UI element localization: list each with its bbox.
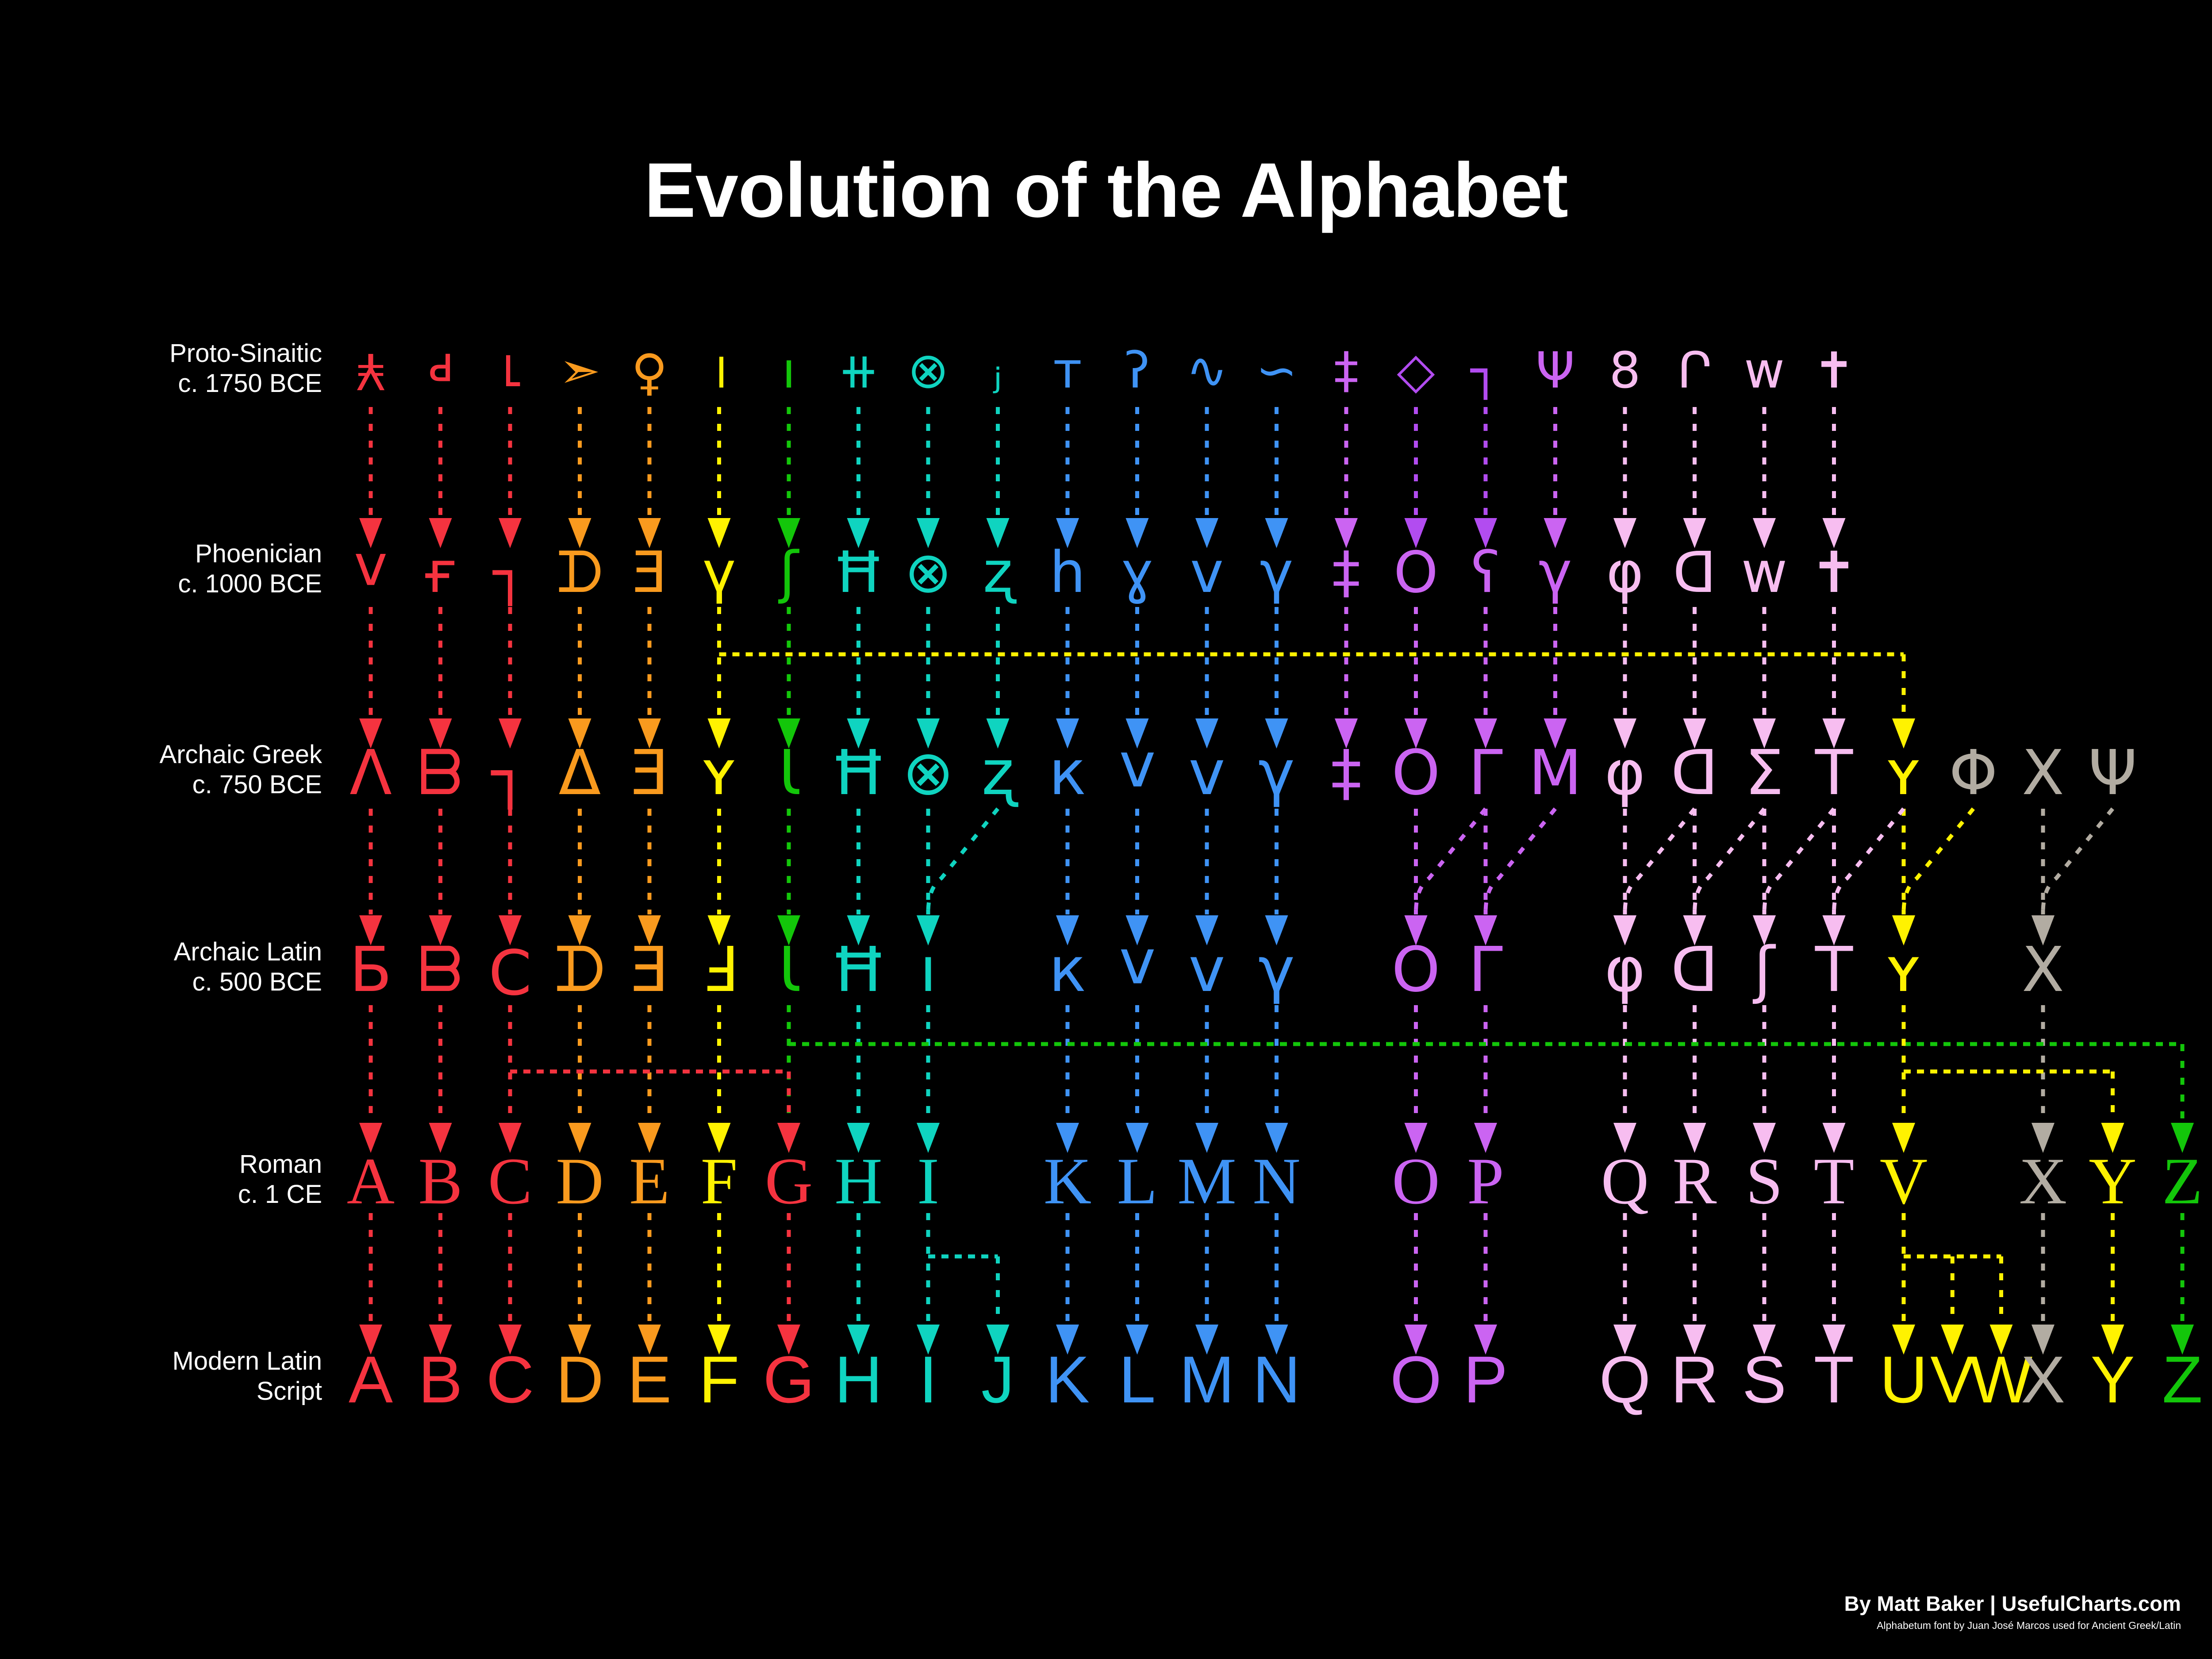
glyph-archaic-latin-letter-i: ı <box>888 934 968 1006</box>
glyph-modern-latin-letter-y: Y <box>2073 1343 2153 1416</box>
glyph-phoenician-resh: ᗡ <box>1655 537 1735 609</box>
glyph-proto-sinaitic-yodh-arm-hand: ⱼ <box>958 334 1038 407</box>
glyph-modern-latin-letter-t: T <box>1794 1343 1874 1416</box>
glyph-phoenician-beth: ғ <box>401 537 480 609</box>
glyph-archaic-greek-tau: Τ <box>1794 737 1874 810</box>
glyph-proto-sinaitic-resh-head: Ր <box>1655 334 1735 407</box>
glyph-archaic-greek-alpha: Ʌ <box>331 737 411 810</box>
glyph-phoenician-taw: ✝ <box>1794 537 1874 609</box>
glyph-phoenician-waw: ү <box>680 537 759 609</box>
glyph-roman-letter-l: L <box>1098 1145 1177 1217</box>
glyph-archaic-greek-digamma: ʏ <box>680 737 759 810</box>
glyph-roman-letter-b: B <box>401 1145 480 1217</box>
glyph-roman-letter-y: Y <box>2073 1145 2153 1217</box>
glyph-phoenician-lamedh: ɣ <box>1098 537 1177 609</box>
glyph-roman-letter-d: D <box>540 1145 620 1217</box>
glyph-phoenician-mem: ᴠ <box>1167 537 1247 609</box>
glyph-archaic-greek-psi: Ψ <box>2073 737 2153 810</box>
glyph-proto-sinaitic-shin-teeth: ᴡ <box>1724 334 1804 407</box>
glyph-archaic-greek-iota: ʐ <box>958 737 1038 810</box>
glyph-modern-latin-letter-s: S <box>1724 1343 1804 1416</box>
glyph-roman-letter-x: X <box>2003 1145 2083 1217</box>
glyph-modern-latin-letter-l: L <box>1098 1343 1177 1416</box>
glyph-phoenician-yodh: ʐ <box>958 537 1038 609</box>
glyph-proto-sinaitic-taw-mark: ✝ <box>1794 334 1874 407</box>
glyph-archaic-greek-theta: ⊗ <box>888 737 968 810</box>
glyph-archaic-latin-letter-s: ʃ <box>1724 934 1804 1006</box>
glyph-modern-latin-letter-b: B <box>401 1343 480 1416</box>
row-label-modern-latin: Modern Latin Script <box>0 1346 322 1407</box>
glyph-phoenician-pe: ʕ <box>1446 537 1525 609</box>
glyph-phoenician-ayin: Ο <box>1376 537 1456 609</box>
glyph-archaic-greek-gamma: ┐ <box>470 737 550 810</box>
glyph-proto-sinaitic-mem-water: ∿ <box>1167 334 1247 407</box>
glyph-archaic-latin-letter-e: Ǝ <box>610 934 689 1006</box>
glyph-roman-letter-a: A <box>331 1145 411 1217</box>
glyph-proto-sinaitic-he-celebrant: ♁ <box>610 334 689 407</box>
glyph-archaic-latin-letter-b: ᗷ <box>401 934 480 1006</box>
glyph-archaic-greek-chi: Χ <box>2003 737 2083 810</box>
glyph-proto-sinaitic-beth-house: ᴘ <box>401 334 480 407</box>
glyph-modern-latin-letter-h: H <box>819 1343 899 1416</box>
glyph-roman-letter-t: T <box>1794 1145 1874 1217</box>
glyph-modern-latin-letter-z: Z <box>2143 1343 2212 1416</box>
glyph-archaic-greek-delta: Δ <box>540 737 620 810</box>
glyph-phoenician-heth: Ħ <box>819 537 899 609</box>
row-label-archaic-latin: Archaic Latin c. 500 BCE <box>0 937 322 998</box>
glyph-archaic-greek-mu: ᴠ <box>1167 737 1247 810</box>
glyph-archaic-greek-sigma: Σ <box>1724 737 1804 810</box>
row-label-roman: Roman c. 1 CE <box>0 1149 322 1210</box>
glyph-archaic-greek-omicron: Ο <box>1376 737 1456 810</box>
glyph-archaic-greek-san: Μ <box>1516 737 1595 810</box>
glyph-phoenician-kaph: һ <box>1028 537 1107 609</box>
glyph-roman-letter-v: V <box>1864 1145 1943 1217</box>
glyph-proto-sinaitic-samekh-support: ‡ <box>1306 334 1386 407</box>
glyph-archaic-greek-phi: Φ <box>1934 737 2013 810</box>
glyph-archaic-latin-letter-x: Χ <box>2003 934 2083 1006</box>
glyph-proto-sinaitic-lamedh-goad: ʔ <box>1098 334 1177 407</box>
glyph-archaic-latin-letter-a: Б <box>331 934 411 1006</box>
glyph-proto-sinaitic-gimel-throwstick: ⌐ <box>474 331 546 411</box>
chart-canvas: Evolution of the Alphabet Proto-Sinaitic… <box>0 0 2212 1659</box>
glyph-proto-sinaitic-pe-mouth-corner: ┐ <box>1446 334 1525 407</box>
glyph-proto-sinaitic-kaph-palm: ᴛ <box>1028 334 1107 407</box>
author-credit[interactable]: By Matt Baker | UsefulCharts.com <box>1844 1591 2181 1616</box>
glyph-roman-letter-h: H <box>819 1145 899 1217</box>
glyph-archaic-latin-letter-o: Ο <box>1376 934 1456 1006</box>
glyph-roman-letter-q: Q <box>1585 1145 1665 1217</box>
glyph-modern-latin-letter-d: D <box>540 1343 620 1416</box>
row-label-proto-sinaitic: Proto-Sinaitic c. 1750 BCE <box>0 338 322 399</box>
glyph-archaic-latin-letter-d: ᗪ <box>540 934 620 1006</box>
glyph-phoenician-aleph: ᴧ <box>331 537 411 609</box>
row-label-phoenician: Phoenician c. 1000 BCE <box>0 539 322 599</box>
glyph-proto-sinaitic-ayin-eye: ◇ <box>1376 334 1456 407</box>
glyph-archaic-latin-letter-h: Ħ <box>819 934 899 1006</box>
glyph-archaic-latin-letter-k: к <box>1028 934 1107 1006</box>
glyph-roman-letter-s: S <box>1724 1145 1804 1217</box>
glyph-modern-latin-letter-c: C <box>470 1343 550 1416</box>
glyph-proto-sinaitic-waw-hook: । <box>680 334 759 407</box>
glyph-phoenician-gimel: ┐ <box>470 537 550 609</box>
glyph-roman-letter-g: G <box>749 1145 829 1217</box>
glyph-modern-latin-letter-f: F <box>680 1343 759 1416</box>
glyph-archaic-latin-letter-l: ʌ <box>1098 934 1177 1006</box>
glyph-roman-letter-e: E <box>610 1145 689 1217</box>
glyph-phoenician-daleth: ᗪ <box>540 537 620 609</box>
glyph-archaic-greek-rho: ᗡ <box>1655 737 1735 810</box>
glyph-roman-letter-m: M <box>1167 1145 1247 1217</box>
glyph-phoenician-zayin: ʃ <box>749 537 829 609</box>
glyph-archaic-latin-letter-p: Γ <box>1446 934 1525 1006</box>
glyph-modern-latin-letter-m: M <box>1167 1343 1247 1416</box>
glyph-archaic-latin-letter-z: Ɩ <box>749 934 829 1006</box>
glyph-modern-latin-letter-o: O <box>1376 1343 1456 1416</box>
glyph-roman-letter-p: P <box>1446 1145 1525 1217</box>
glyph-phoenician-qoph: φ <box>1585 537 1665 609</box>
glyph-modern-latin-letter-r: R <box>1655 1343 1735 1416</box>
glyph-archaic-latin-letter-c: Ɔ <box>470 934 550 1006</box>
glyph-proto-sinaitic-zayin-weapon: ı <box>749 334 829 407</box>
glyph-archaic-greek-beta: ᗷ <box>401 737 480 810</box>
glyph-modern-latin-letter-q: Q <box>1585 1343 1665 1416</box>
glyph-archaic-latin-letter-f: Ⅎ <box>680 934 759 1006</box>
glyph-modern-latin-letter-j: J <box>958 1343 1038 1416</box>
glyph-modern-latin-letter-e: E <box>610 1343 689 1416</box>
glyph-modern-latin-letter-k: K <box>1028 1343 1107 1416</box>
glyph-archaic-latin-letter-n: γ <box>1237 934 1317 1006</box>
font-attribution: Alphabetum font by Juan José Marcos used… <box>1844 1620 2181 1632</box>
glyph-phoenician-tsade: γ <box>1516 537 1595 609</box>
glyph-proto-sinaitic-tsade-plant: Ψ <box>1516 334 1595 407</box>
glyph-archaic-greek-zeta: Ɩ <box>749 737 829 810</box>
glyph-roman-letter-z: Z <box>2143 1145 2212 1217</box>
glyph-phoenician-nun: γ <box>1237 537 1317 609</box>
row-label-archaic-greek: Archaic Greek c. 750 BCE <box>0 740 322 800</box>
glyph-roman-letter-o: O <box>1376 1145 1456 1217</box>
glyph-modern-latin-letter-p: P <box>1446 1343 1525 1416</box>
glyph-archaic-greek-xi: ‡ <box>1306 737 1386 810</box>
glyph-roman-letter-k: K <box>1028 1145 1107 1217</box>
glyph-archaic-greek-eta: Ħ <box>819 737 899 810</box>
glyph-proto-sinaitic-teth-wheel: ⊗ <box>888 334 968 407</box>
glyph-modern-latin-letter-i: I <box>888 1343 968 1416</box>
glyph-archaic-greek-pi: Γ <box>1446 737 1525 810</box>
glyph-roman-letter-f: F <box>680 1145 759 1217</box>
glyph-phoenician-shin: ᴡ <box>1724 537 1804 609</box>
glyph-archaic-latin-letter-t: Τ <box>1794 934 1874 1006</box>
footer-credit: By Matt Baker | UsefulCharts.com Alphabe… <box>1844 1591 2181 1632</box>
glyph-proto-sinaitic-qoph-cord: 8 <box>1585 334 1665 407</box>
glyph-archaic-greek-kappa: к <box>1028 737 1107 810</box>
glyph-proto-sinaitic-daleth-fish: ➣ <box>540 334 620 407</box>
glyph-roman-letter-c: C <box>470 1145 550 1217</box>
glyph-archaic-greek-epsilon: Ǝ <box>610 737 689 810</box>
glyph-phoenician-teth: ⊗ <box>888 537 968 609</box>
glyph-proto-sinaitic-aleph-ox-head: ¥ <box>331 334 411 407</box>
glyph-roman-letter-n: N <box>1237 1145 1317 1217</box>
glyph-roman-letter-r: R <box>1655 1145 1735 1217</box>
glyph-archaic-greek-upsilon: ʏ <box>1864 737 1943 810</box>
glyph-roman-letter-i: I <box>888 1145 968 1217</box>
glyph-phoenician-samekh: ‡ <box>1306 537 1386 609</box>
glyph-archaic-latin-letter-v: ʏ <box>1864 934 1943 1006</box>
glyph-modern-latin-letter-a: A <box>331 1343 411 1416</box>
glyph-archaic-greek-qoppa: φ <box>1585 737 1665 810</box>
glyph-archaic-greek-lambda: ʌ <box>1098 737 1177 810</box>
glyph-modern-latin-letter-x: X <box>2003 1343 2083 1416</box>
glyph-phoenician-he: Ǝ <box>610 537 689 609</box>
page-title: Evolution of the Alphabet <box>0 146 2212 235</box>
glyph-proto-sinaitic-nun-snake: ∽ <box>1237 334 1317 407</box>
glyph-modern-latin-letter-n: N <box>1237 1343 1317 1416</box>
glyph-archaic-latin-letter-q: φ <box>1585 934 1665 1006</box>
glyph-proto-sinaitic-heth-fence: ⧺ <box>819 334 899 407</box>
glyph-modern-latin-letter-g: G <box>749 1343 829 1416</box>
glyph-archaic-greek-nu: γ <box>1237 737 1317 810</box>
glyph-archaic-latin-letter-m: ᴠ <box>1167 934 1247 1006</box>
glyph-archaic-latin-letter-r: ᗡ <box>1655 934 1735 1006</box>
